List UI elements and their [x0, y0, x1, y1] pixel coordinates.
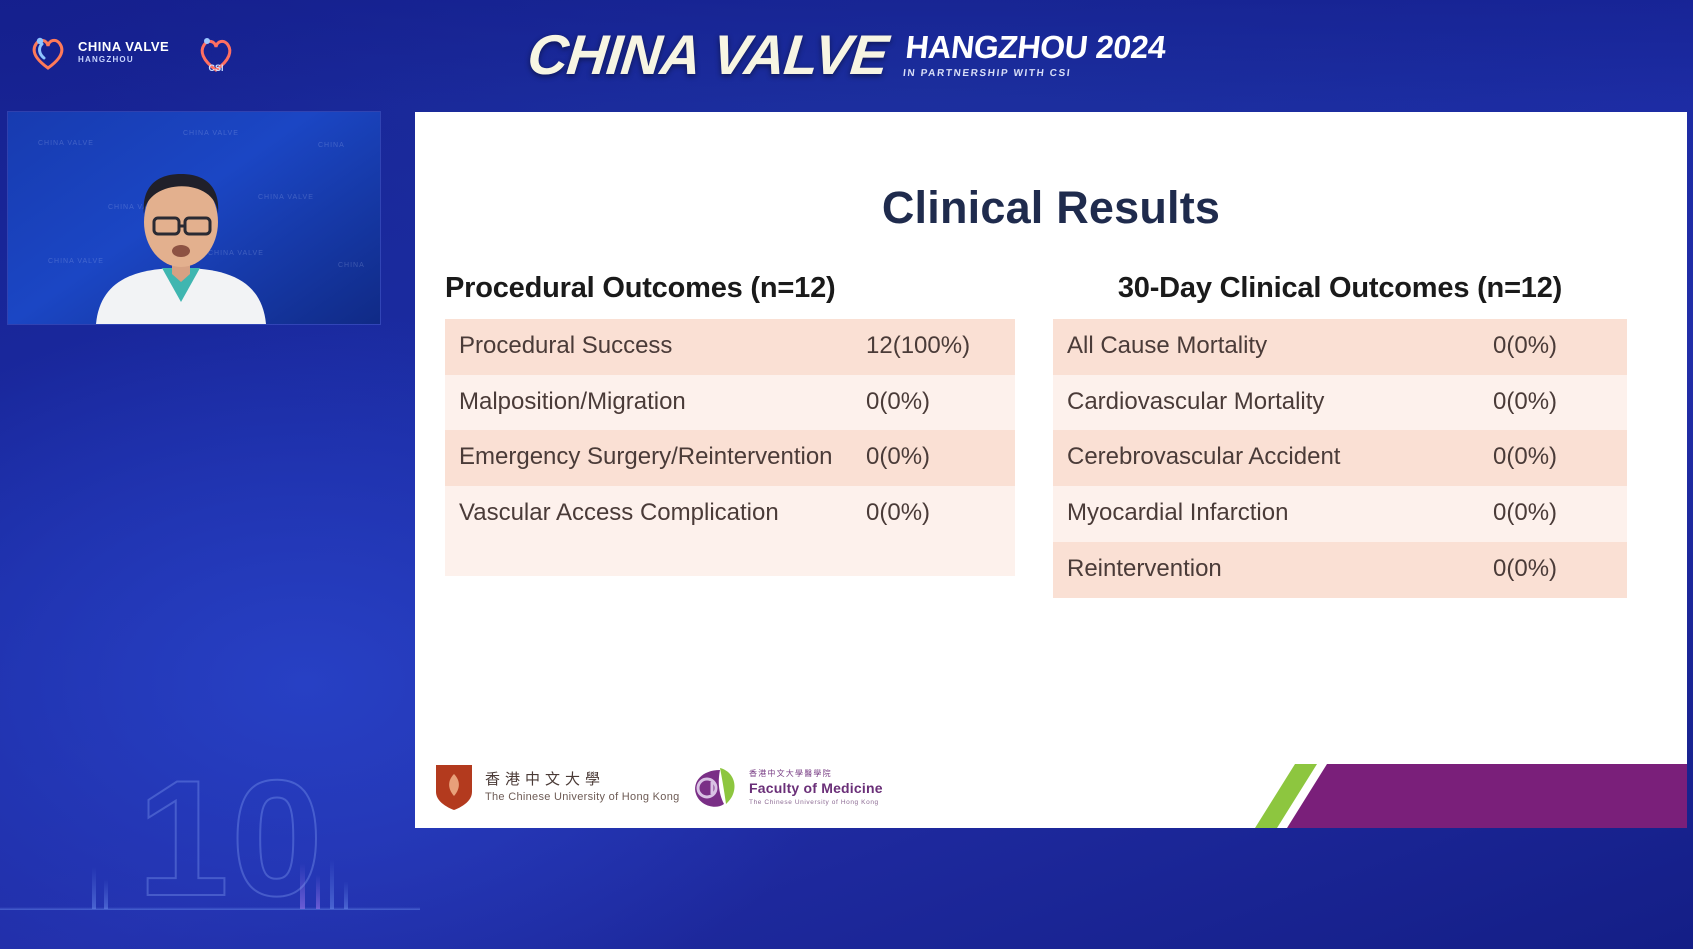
cu-medicine-text: 香港中文大學醫學院 Faculty of Medicine The Chines… [749, 770, 883, 806]
row-label: Myocardial Infarction [1067, 498, 1493, 529]
row-label: Cardiovascular Mortality [1067, 387, 1493, 418]
masthead-partner-line: IN PARTNERSHIP WITH CSI [903, 68, 1164, 79]
cu-medicine-subline: The Chinese University of Hong Kong [749, 799, 883, 806]
masthead: CHINA VALVE HANGZHOU 2024 IN PARTNERSHIP… [0, 22, 1693, 87]
table-heading: Procedural Outcomes (n=12) [445, 272, 1015, 305]
row-value: 0(0%) [1493, 331, 1613, 362]
masthead-right-block: HANGZHOU 2024 IN PARTNERSHIP WITH CSI [903, 31, 1168, 79]
presentation-slide[interactable]: Clinical Results Procedural Outcomes (n=… [415, 112, 1687, 828]
row-label: Reintervention [1067, 554, 1493, 585]
speaker-video-tile[interactable]: CHINA VALVE CHINA VALVE CHINA CHINA VALV… [8, 112, 380, 324]
table-row: Malposition/Migration 0(0%) [445, 375, 1015, 431]
cuhk-text: 香港中文大學 The Chinese University of Hong Ko… [485, 771, 680, 804]
row-value: 0(0%) [1493, 442, 1613, 473]
cu-medicine-leaf-icon [690, 766, 740, 810]
cu-medicine-name-en: Faculty of Medicine [749, 781, 883, 796]
table-heading: 30-Day Clinical Outcomes (n=12) [1053, 272, 1627, 305]
cuhk-name-en: The Chinese University of Hong Kong [485, 791, 680, 804]
speaker-portrait [76, 156, 286, 324]
row-value: 0(0%) [1493, 554, 1613, 585]
event-header: CHINA VALVE HANGZHOU CSI CHINA VALVE HAN… [0, 0, 1693, 104]
table-row: Emergency Surgery/Reintervention 0(0%) [445, 430, 1015, 486]
row-value: 0(0%) [1493, 498, 1613, 529]
row-label: Malposition/Migration [459, 387, 866, 418]
thirty-day-outcomes-table: 30-Day Clinical Outcomes (n=12) All Caus… [1053, 272, 1627, 598]
table-row: Myocardial Infarction 0(0%) [1053, 486, 1627, 542]
row-label: Cerebrovascular Accident [1067, 442, 1493, 473]
table-row: Vascular Access Complication 0(0%) [445, 486, 1015, 542]
cuhk-crest-icon [433, 762, 475, 812]
row-value: 0(0%) [866, 442, 1001, 473]
corner-accent-band [987, 764, 1687, 828]
cuhk-name-zh: 香港中文大學 [485, 771, 680, 788]
cu-medicine-name-zh: 香港中文大學醫學院 [749, 770, 883, 779]
row-value: 0(0%) [1493, 387, 1613, 418]
broadcast-stage: 10 CHINA VALVE HANGZHOU CSI CHINA VALVE … [0, 0, 1693, 949]
table-row: Reintervention 0(0%) [1053, 542, 1627, 598]
procedural-outcomes-table: Procedural Outcomes (n=12) Procedural Su… [445, 272, 1015, 598]
cuhk-logo: 香港中文大學 The Chinese University of Hong Ko… [433, 762, 680, 812]
row-value: 0(0%) [866, 387, 1001, 418]
table-row: All Cause Mortality 0(0%) [1053, 319, 1627, 375]
row-label: Vascular Access Complication [459, 498, 866, 529]
table-body: Procedural Success 12(100%) Malposition/… [445, 319, 1015, 576]
table-row: Cerebrovascular Accident 0(0%) [1053, 430, 1627, 486]
row-value: 12(100%) [866, 331, 1001, 362]
row-label: Emergency Surgery/Reintervention [459, 442, 866, 473]
slide-title: Clinical Results [415, 182, 1687, 234]
slide-footer: 香港中文大學 The Chinese University of Hong Ko… [415, 742, 1687, 828]
table-row-filler [445, 542, 1015, 576]
row-label: All Cause Mortality [1067, 331, 1493, 362]
skyline-decoration [0, 829, 420, 949]
outcomes-tables: Procedural Outcomes (n=12) Procedural Su… [445, 272, 1657, 598]
table-row: Procedural Success 12(100%) [445, 319, 1015, 375]
table-row: Cardiovascular Mortality 0(0%) [1053, 375, 1627, 431]
masthead-city-year: HANGZHOU 2024 [904, 29, 1168, 65]
table-body: All Cause Mortality 0(0%) Cardiovascular… [1053, 319, 1627, 598]
cu-medicine-logo: 香港中文大學醫學院 Faculty of Medicine The Chines… [690, 766, 883, 810]
masthead-main-title: CHINA VALVE [524, 22, 890, 87]
row-value: 0(0%) [866, 498, 1001, 529]
row-label: Procedural Success [459, 331, 866, 362]
anniversary-watermark: 10 [86, 763, 376, 913]
